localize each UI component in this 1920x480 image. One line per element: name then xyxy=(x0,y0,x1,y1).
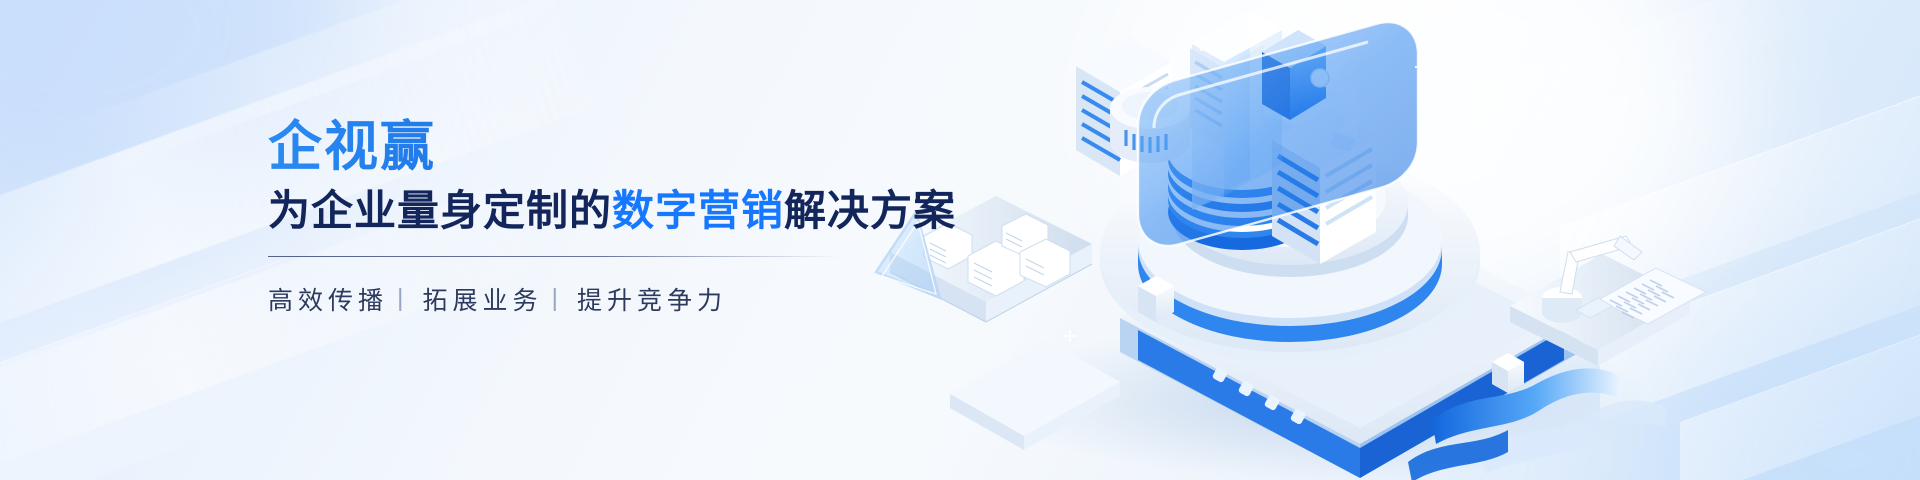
tagline-item-1: 高效传播 xyxy=(268,281,388,317)
tagline-item-3: 提升竞争力 xyxy=(577,281,727,317)
tagline-separator-2: | xyxy=(552,284,564,313)
hero-banner: 企视赢 为企业量身定制的数字营销解决方案 高效传播 | 拓展业务 | 提升竞争力 xyxy=(0,0,1920,480)
divider-rule xyxy=(268,256,840,257)
tagline: 高效传播 | 拓展业务 | 提升竞争力 xyxy=(268,281,888,317)
bg-panel-bottom-left xyxy=(0,260,280,480)
headline-suffix: 解决方案 xyxy=(784,187,956,234)
tagline-separator-1: | xyxy=(397,284,409,313)
headline-highlight: 数字营销 xyxy=(612,187,784,234)
headline: 为企业量身定制的数字营销解决方案 xyxy=(268,186,888,236)
hero-illustration xyxy=(820,0,1920,480)
brand-title: 企视赢 xyxy=(268,118,888,176)
headline-prefix: 为企业量身定制的 xyxy=(268,187,612,234)
tagline-item-2: 拓展业务 xyxy=(423,281,543,317)
banner-copy: 企视赢 为企业量身定制的数字营销解决方案 高效传播 | 拓展业务 | 提升竞争力 xyxy=(268,118,888,317)
